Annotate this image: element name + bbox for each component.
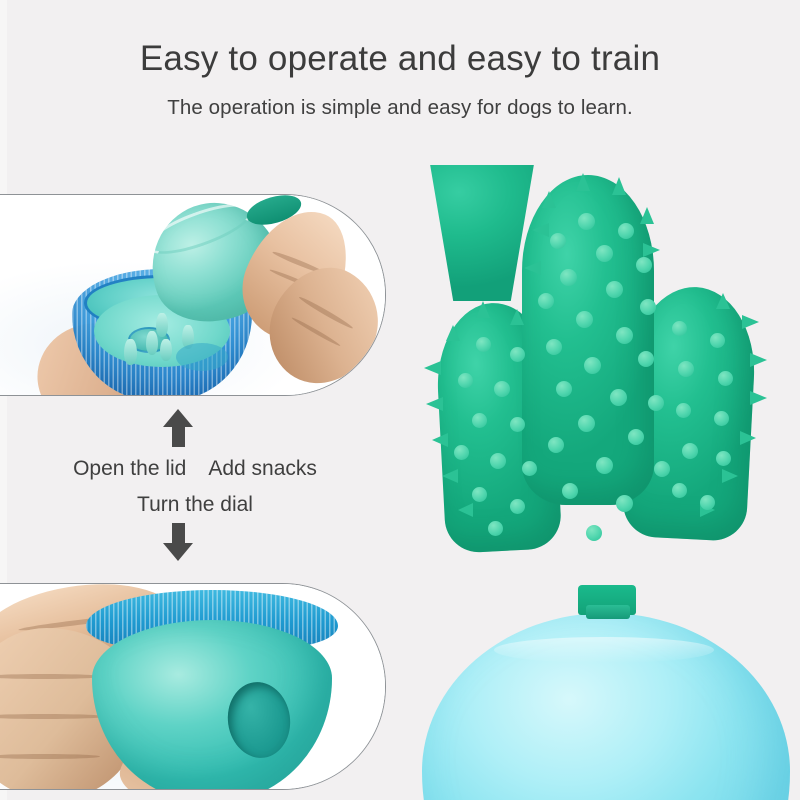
cactus-bump — [578, 213, 595, 230]
cactus-bump — [546, 339, 562, 355]
photo-panel-open-lid — [0, 194, 386, 396]
cactus-bump — [556, 381, 572, 397]
cactus-bump — [596, 457, 613, 474]
cactus-spike — [510, 309, 524, 325]
inner-peg — [124, 339, 137, 365]
cactus-bump — [678, 361, 694, 377]
cactus-bump — [682, 443, 698, 459]
dispensing-hole — [223, 678, 295, 762]
inner-peg — [160, 339, 172, 361]
instruction-label-row: Open the lid Add snacks — [0, 457, 390, 481]
cactus-spike — [643, 243, 660, 257]
cactus-bump — [494, 381, 510, 397]
cactus-bump — [700, 495, 715, 510]
cactus-bump — [548, 437, 564, 453]
cactus-bump — [638, 351, 654, 367]
cactus-spike — [442, 469, 458, 483]
cactus-bump — [476, 337, 491, 352]
lid-rim — [141, 194, 258, 264]
cactus-bump — [672, 483, 687, 498]
arrow-down-icon — [163, 523, 193, 561]
ball-body — [92, 620, 332, 790]
cactus-bump — [710, 333, 725, 348]
cactus-bump — [672, 321, 687, 336]
cactus-bump — [716, 451, 731, 466]
base-ball-highlight — [494, 637, 714, 663]
instruction-label-dial-row: Turn the dial — [0, 493, 390, 517]
cactus-spike — [640, 207, 654, 224]
cactus-bump — [522, 461, 537, 476]
cactus-bump — [640, 299, 656, 315]
cactus-bump — [560, 269, 577, 286]
cactus-spike — [716, 293, 730, 309]
cactus-bump — [510, 499, 525, 514]
cactus-bump — [586, 525, 602, 541]
cactus-bump — [550, 233, 566, 249]
cactus-bump — [538, 293, 554, 309]
product-base-ball — [422, 613, 790, 800]
cactus-spike — [722, 469, 738, 483]
step-label-add-snacks: Add snacks — [208, 457, 317, 481]
cactus-spike — [740, 431, 756, 445]
cactus-bump — [610, 389, 627, 406]
cactus-spike — [542, 191, 556, 208]
product-image-cactus-dispenser — [410, 165, 800, 800]
arrow-up-head — [163, 409, 193, 427]
photo-panel-turn-dial — [0, 583, 386, 790]
assembled-treat-ball — [86, 590, 338, 790]
cactus-bump — [616, 495, 633, 512]
arrow-up-shaft — [172, 427, 185, 447]
cactus-bump — [714, 411, 729, 426]
cactus-bump — [616, 327, 633, 344]
page-subtitle: The operation is simple and easy for dog… — [0, 96, 800, 120]
cactus-bump — [490, 453, 506, 469]
cactus-spike — [446, 325, 460, 341]
cactus-bump — [472, 487, 487, 502]
cactus-spike — [476, 301, 490, 318]
cactus-bump — [718, 371, 733, 386]
cactus-spike — [742, 315, 759, 329]
panel-scene-top — [0, 195, 385, 395]
cactus-bump — [510, 417, 525, 432]
cactus-bump — [648, 395, 664, 411]
cactus-spike — [432, 433, 448, 447]
cactus-spike — [532, 223, 549, 237]
cactus-stem-collar — [586, 605, 630, 619]
cactus-bump — [510, 347, 525, 362]
arrow-down-shaft — [172, 523, 185, 543]
cactus-bump — [676, 403, 691, 418]
cactus-topper — [410, 165, 800, 635]
cactus-spike — [750, 391, 767, 405]
cactus-bump — [576, 311, 593, 328]
finger-crease — [291, 316, 341, 347]
cactus-bump — [454, 445, 469, 460]
inner-peg — [146, 331, 158, 355]
cactus-bump — [596, 245, 613, 262]
cactus-bump — [654, 461, 670, 477]
arrow-down-head — [163, 543, 193, 561]
cactus-bump — [584, 357, 601, 374]
header: Easy to operate and easy to train The op… — [0, 0, 800, 120]
cactus-spike — [750, 353, 767, 367]
page-title: Easy to operate and easy to train — [0, 40, 800, 79]
cactus-spike — [458, 503, 473, 517]
cactus-bump — [606, 281, 623, 298]
cactus-bump — [488, 521, 503, 536]
cactus-bump — [562, 483, 578, 499]
arrow-up-icon — [163, 409, 193, 447]
inner-peg — [156, 313, 168, 337]
cactus-spike — [612, 177, 626, 195]
cactus-spike — [576, 173, 590, 191]
step-label-open-lid: Open the lid — [73, 457, 186, 481]
cactus-bump — [628, 429, 644, 445]
cactus-bump — [472, 413, 487, 428]
cactus-spike — [524, 261, 541, 275]
finger-crease — [0, 754, 100, 759]
cactus-bump — [636, 257, 652, 273]
panel-scene-bottom — [0, 584, 385, 789]
dial-disc — [176, 343, 228, 371]
cactus-spike — [426, 397, 443, 411]
cactus-bump — [618, 223, 634, 239]
cactus-bump — [458, 373, 473, 388]
step-label-turn-dial: Turn the dial — [137, 493, 253, 516]
cactus-bump — [578, 415, 595, 432]
cactus-spike — [424, 361, 441, 375]
